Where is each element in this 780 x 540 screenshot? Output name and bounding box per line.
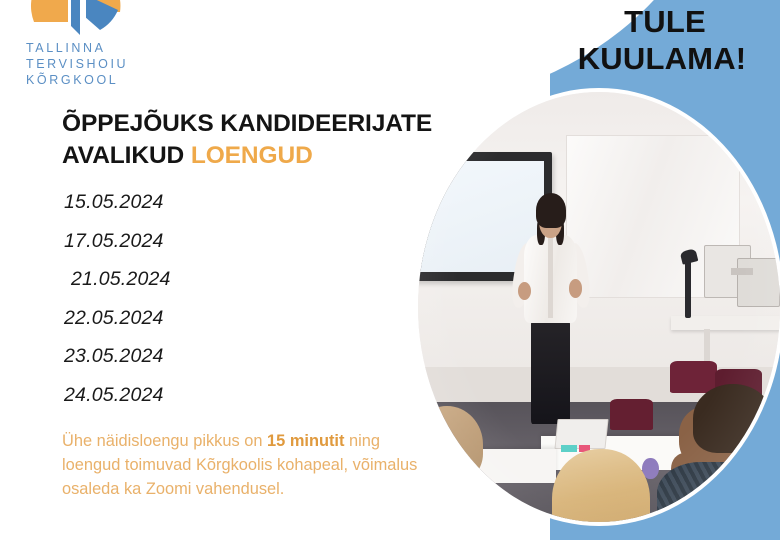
list-item: 17.05.2024: [64, 232, 304, 252]
classroom-lecture-photo: [418, 92, 780, 522]
list-item: 24.05.2024: [64, 386, 304, 406]
list-item: 23.05.2024: [64, 347, 304, 367]
poster-canvas: TULE KUULAMA!: [0, 0, 780, 540]
logo-text-line-3: KÕRGKOOL: [26, 72, 148, 88]
lecture-dates-list: 15.05.2024 17.05.2024 21.05.2024 22.05.2…: [64, 193, 304, 424]
list-item: 15.05.2024: [64, 193, 304, 213]
banner-text: TULE KUULAMA!: [550, 0, 780, 77]
logo-text-line-2: TERVISHOIU: [26, 56, 148, 72]
headline-line-2-plain: AVALIKUD: [62, 142, 191, 169]
logo-text-line-1: TALLINNA: [26, 40, 148, 56]
photo-scene: [418, 92, 780, 522]
note-duration: 15 minutit: [267, 432, 344, 450]
info-note: Ühe näidisloengu pikkus on 15 minutit ni…: [62, 430, 432, 501]
logo: TALLINNA TERVISHOIU KÕRGKOOL: [18, 0, 146, 90]
logo-text: TALLINNA TERVISHOIU KÕRGKOOL: [26, 40, 148, 88]
banner-line-2: KUULAMA!: [550, 41, 774, 78]
headline-line-2: AVALIKUD LOENGUD: [62, 140, 462, 172]
banner-line-1: TULE: [550, 4, 780, 41]
list-item: 22.05.2024: [64, 309, 304, 329]
headline-line-1: ÕPPEJÕUKS KANDIDEERIJATE: [62, 108, 462, 140]
photo-vignette: [418, 92, 780, 522]
note-part-one: Ühe näidisloengu pikkus on: [62, 432, 267, 450]
headline-accent: LOENGUD: [191, 142, 313, 169]
list-item: 21.05.2024: [64, 270, 304, 290]
page-title: ÕPPEJÕUKS KANDIDEERIJATE AVALIKUD LOENGU…: [62, 108, 462, 173]
logo-mark-icon: [28, 0, 124, 44]
